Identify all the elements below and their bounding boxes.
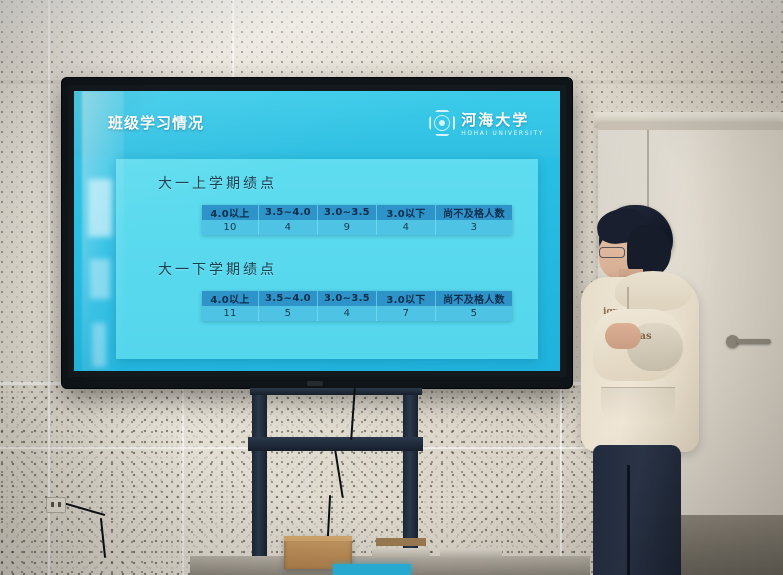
td-above-4: 10 xyxy=(202,220,259,235)
td-30-35: 9 xyxy=(318,220,377,235)
wall-outlet[interactable] xyxy=(46,497,66,513)
slide-content-card: 大一上学期绩点 4.0以上 3.5~4.0 3.0~3.5 3.0以下 尚不及格… xyxy=(116,159,538,359)
slide-title: 班级学习情况 xyxy=(108,112,204,133)
screen-glare-spot xyxy=(90,259,110,299)
screen-glare-spot xyxy=(88,179,112,237)
th-35-40: 3.5~4.0 xyxy=(259,205,318,220)
td-35-40: 5 xyxy=(259,306,318,321)
section-heading-1: 大一上学期绩点 xyxy=(158,173,277,193)
hands xyxy=(605,323,641,349)
th-failing: 尚不及格人数 xyxy=(436,291,512,306)
display-brand-mark xyxy=(307,381,323,386)
th-30-35: 3.0~3.5 xyxy=(318,205,377,220)
classroom-photo: 班级学习情况 河海大学 HOHAI UNIVERSITY 大一上学期绩点 xyxy=(0,0,783,575)
th-above-4: 4.0以上 xyxy=(202,205,259,220)
university-seal-icon xyxy=(429,110,455,136)
stacked-book xyxy=(376,538,426,546)
panel-seam xyxy=(48,0,50,575)
panel-seam xyxy=(232,0,234,86)
university-brand: 河海大学 HOHAI UNIVERSITY xyxy=(429,109,544,137)
display-screen[interactable]: 班级学习情况 河海大学 HOHAI UNIVERSITY 大一上学期绩点 xyxy=(74,91,560,371)
brand-name-cn: 河海大学 xyxy=(461,111,529,129)
door-handle-right[interactable] xyxy=(737,339,771,344)
stand-top-beam xyxy=(250,388,422,395)
screen-glare-spot xyxy=(92,323,106,367)
td-30-35: 4 xyxy=(318,306,377,321)
hoodie-pocket xyxy=(601,387,675,422)
grade-table-2: 4.0以上 3.5~4.0 3.0~3.5 3.0以下 尚不及格人数 11 5 … xyxy=(202,291,512,321)
th-below-3: 3.0以下 xyxy=(377,291,436,306)
presenter: igna Gas xyxy=(575,205,715,575)
stacked-book xyxy=(372,548,430,558)
reflective-strip xyxy=(333,564,411,575)
th-35-40: 3.5~4.0 xyxy=(259,291,318,306)
td-below-3: 7 xyxy=(377,306,436,321)
td-35-40: 4 xyxy=(259,220,318,235)
table-header-row: 4.0以上 3.5~4.0 3.0~3.5 3.0以下 尚不及格人数 xyxy=(202,205,512,220)
td-above-4: 11 xyxy=(202,306,259,321)
jeans-inseam xyxy=(627,465,630,575)
stand-crossbeam xyxy=(248,437,423,451)
presentation-slide: 班级学习情况 河海大学 HOHAI UNIVERSITY 大一上学期绩点 xyxy=(74,91,560,371)
table-value-row: 11 5 4 7 5 xyxy=(202,306,512,321)
td-below-3: 4 xyxy=(377,220,436,235)
brand-name-en: HOHAI UNIVERSITY xyxy=(461,130,544,137)
td-failing: 5 xyxy=(436,306,512,321)
brand-text-block: 河海大学 HOHAI UNIVERSITY xyxy=(461,109,544,137)
th-below-3: 3.0以下 xyxy=(377,205,436,220)
jeans xyxy=(593,445,681,575)
panel-seam xyxy=(182,385,184,575)
interactive-display[interactable]: 班级学习情况 河海大学 HOHAI UNIVERSITY 大一上学期绩点 xyxy=(62,78,572,388)
panel-seam xyxy=(560,385,562,575)
table-header-row: 4.0以上 3.5~4.0 3.0~3.5 3.0以下 尚不及格人数 xyxy=(202,291,512,306)
section-heading-2: 大一下学期绩点 xyxy=(158,259,277,279)
th-failing: 尚不及格人数 xyxy=(436,205,512,220)
glasses-icon xyxy=(599,247,625,258)
table-value-row: 10 4 9 4 3 xyxy=(202,220,512,235)
th-30-35: 3.0~3.5 xyxy=(318,291,377,306)
box-lid xyxy=(284,536,352,541)
stand-left-column xyxy=(252,388,267,566)
stacked-book xyxy=(440,549,502,558)
grade-table-1: 4.0以上 3.5~4.0 3.0~3.5 3.0以下 尚不及格人数 10 4 … xyxy=(202,205,512,235)
td-failing: 3 xyxy=(436,220,512,235)
th-above-4: 4.0以上 xyxy=(202,291,259,306)
